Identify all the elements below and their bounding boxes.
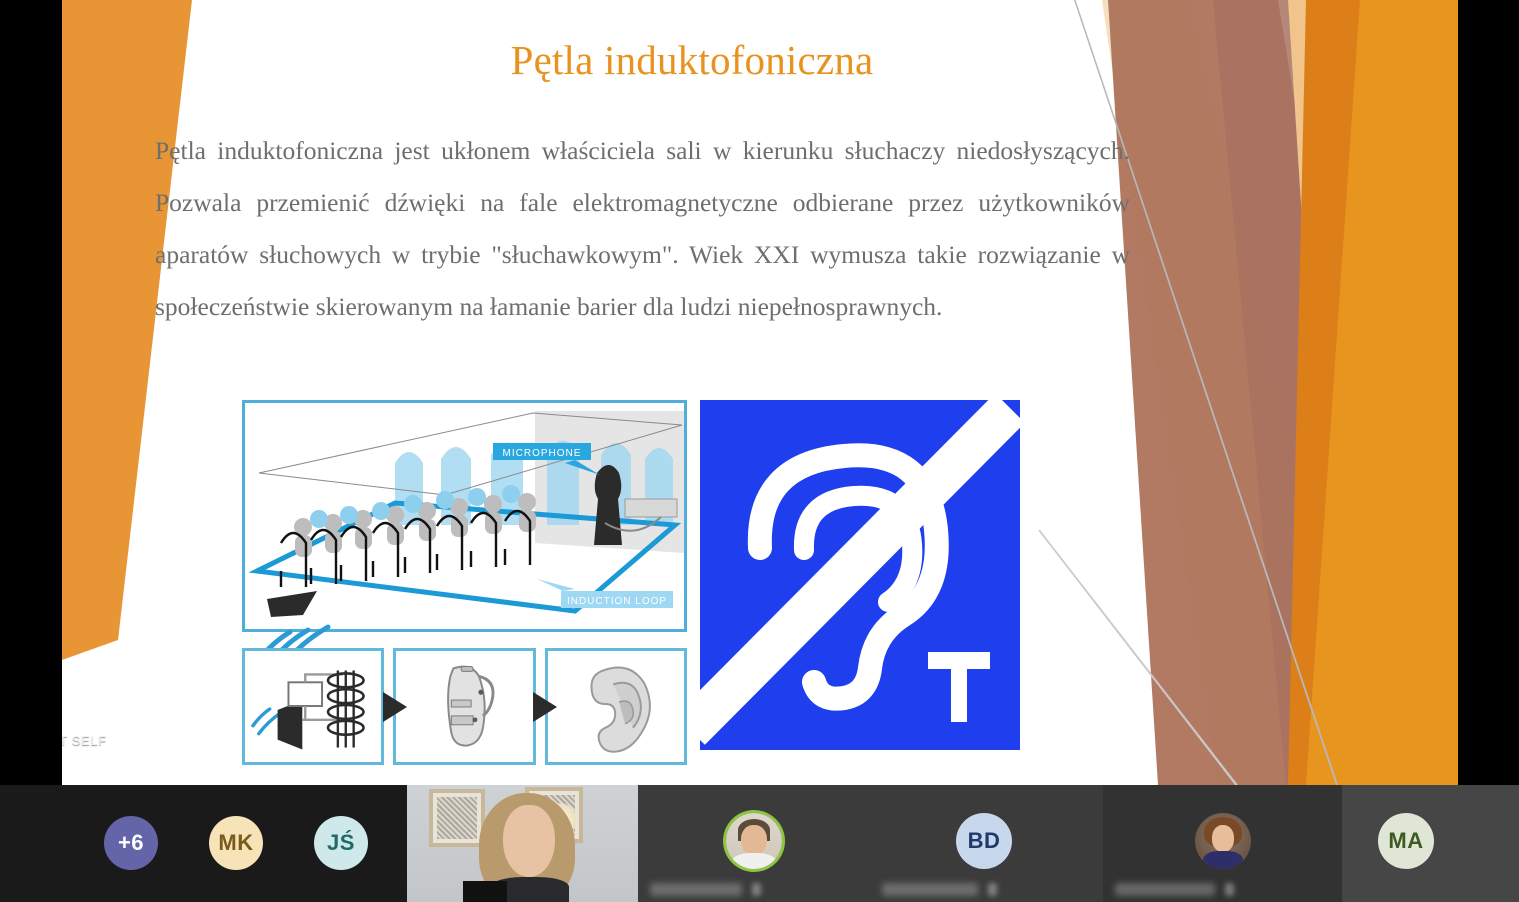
- chain-step-ear: [545, 648, 687, 765]
- participant-tile-video[interactable]: [407, 785, 638, 902]
- slide-figure: MICROPHONE INDUCTION LOOP: [242, 400, 1020, 765]
- avatar-label: MK: [218, 830, 253, 856]
- participant-name-redacted: [882, 883, 978, 896]
- avatar-label: JŚ: [327, 830, 355, 856]
- avatar-label: +6: [118, 830, 144, 856]
- hearing-loop-symbol: [700, 400, 1020, 750]
- avatar-js[interactable]: JŚ: [314, 816, 368, 870]
- watermark-label: CST SELF: [62, 733, 107, 748]
- avatar-ma[interactable]: MA: [1378, 813, 1434, 869]
- avatar-photo[interactable]: [1195, 813, 1251, 869]
- participant-name-row: [882, 883, 997, 896]
- participant-name-row: [650, 883, 761, 896]
- presentation-slide: Pętla induktofoniczna Pętla induktofonic…: [62, 0, 1458, 785]
- avatar-label: MA: [1388, 828, 1423, 854]
- avatar-overflow-count[interactable]: +6: [104, 816, 158, 870]
- microphone-icon: [1225, 883, 1234, 896]
- participant-tile-photo-2[interactable]: [1103, 785, 1342, 902]
- avatar-bd[interactable]: BD: [956, 813, 1012, 869]
- lecture-hall-svg: MICROPHONE INDUCTION LOOP: [245, 403, 684, 629]
- video-feed: [407, 785, 638, 902]
- lecture-hall-illustration: MICROPHONE INDUCTION LOOP: [242, 400, 687, 632]
- chain-arrow-2: [533, 692, 557, 722]
- slide-title: Pętla induktofoniczna: [192, 36, 1192, 84]
- svg-text:MICROPHONE: MICROPHONE: [503, 448, 582, 459]
- hearing-loop-symbol-svg: [700, 400, 1020, 750]
- slide-body-text: Pętla induktofoniczna jest ukłonem właśc…: [155, 125, 1130, 333]
- participant-strip: +6 MK JŚ: [0, 785, 1519, 902]
- chain-arrow-1: [383, 692, 407, 722]
- chain-step-amplifier-coil: [242, 648, 384, 765]
- signal-chain-row: [242, 648, 687, 765]
- participant-tile-photo-1[interactable]: [638, 785, 870, 902]
- participant-name-redacted: [650, 883, 742, 896]
- participant-name-redacted: [1115, 883, 1215, 896]
- participant-tile-initials-group[interactable]: +6 MK JŚ: [0, 785, 407, 902]
- participant-tile-ma[interactable]: MA: [1342, 785, 1519, 902]
- avatar-mk[interactable]: MK: [209, 816, 263, 870]
- microphone-icon: [988, 883, 997, 896]
- slide-decoration-right-shapes: [1038, 0, 1458, 785]
- avatar-label: BD: [968, 828, 1001, 854]
- screen-share-meeting-view: Pętla induktofoniczna Pętla induktofonic…: [0, 0, 1519, 902]
- avatar-photo-speaking[interactable]: [726, 813, 782, 869]
- shared-content-stage[interactable]: Pętla induktofoniczna Pętla induktofonic…: [0, 0, 1519, 785]
- induction-loop-diagram: MICROPHONE INDUCTION LOOP: [242, 400, 687, 765]
- microphone-icon: [752, 883, 761, 896]
- participant-name-row: [1115, 883, 1234, 896]
- participant-tile-bd[interactable]: BD: [870, 785, 1103, 902]
- svg-text:INDUCTION LOOP: INDUCTION LOOP: [567, 596, 667, 607]
- chain-step-hearing-aid: [393, 648, 535, 765]
